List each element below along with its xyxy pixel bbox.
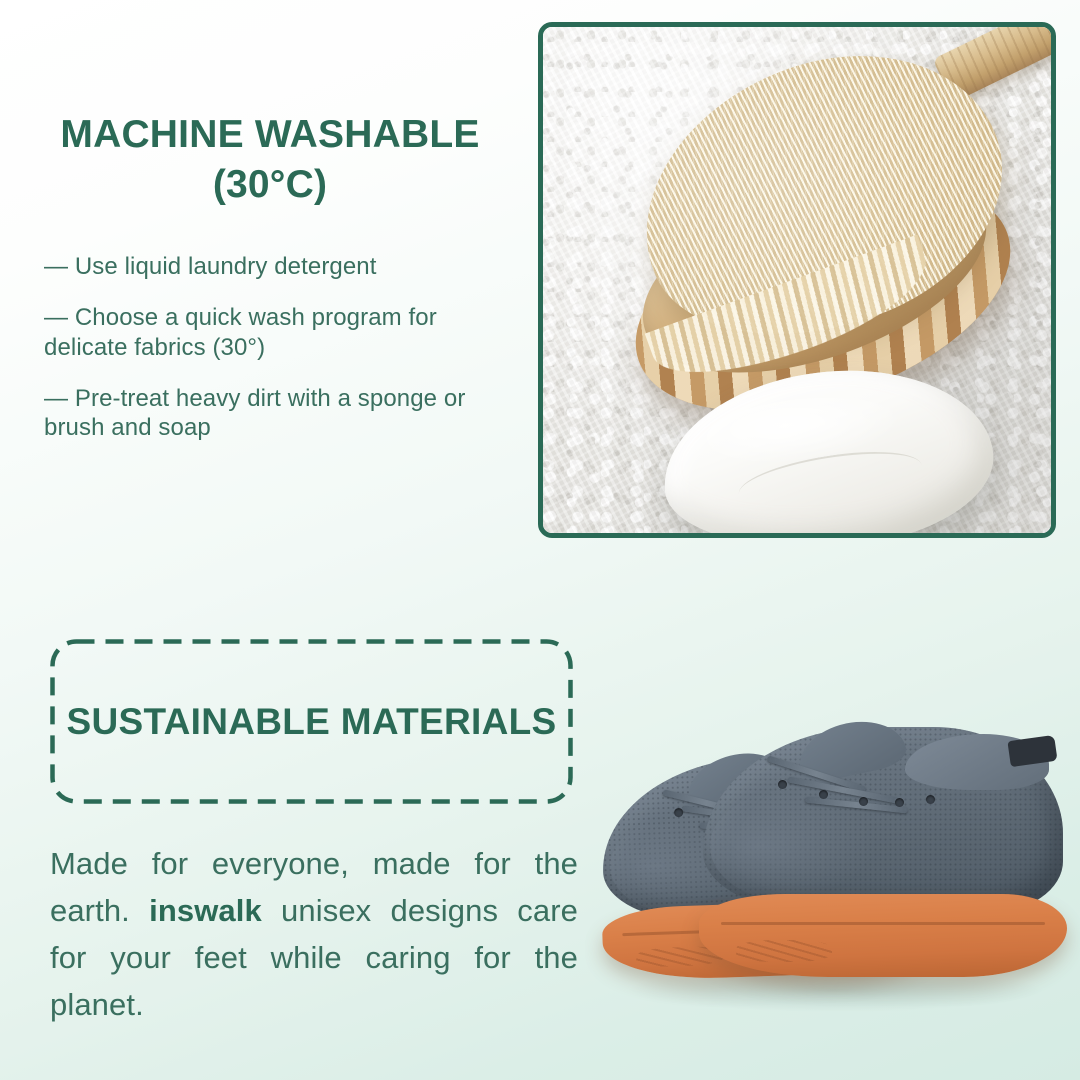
sustainable-materials-badge: SUSTAINABLE MATERIALS <box>50 639 573 804</box>
sneaker-front <box>703 727 1063 972</box>
care-headline: MACHINE WASHABLE (30°C) <box>0 110 540 210</box>
sneaker-front-sole <box>699 894 1066 977</box>
sustainability-paragraph: Made for everyone, made for the earth. i… <box>50 840 578 1028</box>
care-photo-frame <box>538 22 1056 538</box>
sole-edge-line <box>721 922 1044 925</box>
lace-eyelet <box>674 808 683 817</box>
sustainable-materials-label: SUSTAINABLE MATERIALS <box>50 639 573 804</box>
brand-name: inswalk <box>149 893 262 928</box>
care-headline-line-2: (30°C) <box>0 160 540 210</box>
sneaker-front-upper <box>703 727 1063 913</box>
care-bullet-item: — Choose a quick wash program for delica… <box>44 303 514 362</box>
sole-tread <box>736 940 831 962</box>
lace-eyelet <box>819 790 828 799</box>
care-instruction-list: — Use liquid laundry detergent — Choose … <box>44 252 514 464</box>
sneaker-front-heel-tab <box>1007 735 1057 767</box>
lace-eyelet <box>859 797 868 806</box>
brush-and-soap-photo <box>543 27 1051 533</box>
lace-eyelet <box>895 798 904 807</box>
care-bullet-item: — Use liquid laundry detergent <box>44 252 514 281</box>
care-bullet-item: — Pre-treat heavy dirt with a sponge or … <box>44 384 514 443</box>
sneaker-front-laces <box>761 749 984 831</box>
sneakers-photo <box>585 705 1080 1050</box>
lace-eyelet <box>926 795 935 804</box>
care-headline-line-1: MACHINE WASHABLE <box>0 110 540 160</box>
marketing-poster: MACHINE WASHABLE (30°C) — Use liquid lau… <box>0 0 1080 1080</box>
lace-eyelet <box>778 780 787 789</box>
